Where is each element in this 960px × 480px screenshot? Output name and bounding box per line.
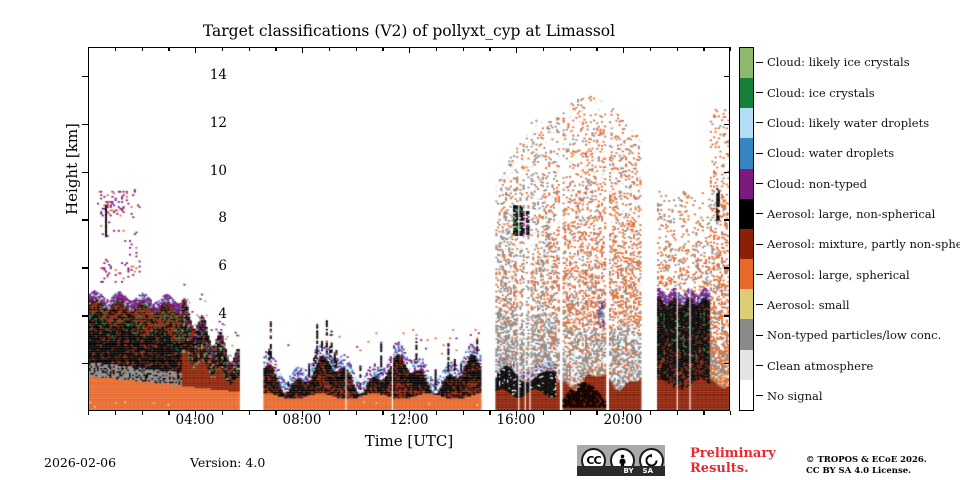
x-tick-mark bbox=[88, 47, 89, 51]
x-tick-mark bbox=[409, 47, 410, 53]
x-tick-mark bbox=[168, 47, 169, 51]
legend-label: Cloud: water droplets bbox=[767, 146, 894, 160]
colorbar-segment bbox=[740, 350, 753, 380]
x-tick-mark bbox=[623, 47, 624, 53]
x-tick-mark bbox=[249, 47, 250, 51]
y-tick-label: 8 bbox=[187, 212, 227, 226]
y-tick-mark bbox=[724, 219, 730, 220]
y-tick-label: 14 bbox=[187, 69, 227, 83]
y-tick-mark bbox=[82, 76, 88, 77]
y-tick-mark bbox=[82, 267, 88, 268]
legend-tick bbox=[756, 183, 763, 184]
x-tick-mark bbox=[115, 47, 116, 51]
x-tick-label: 20:00 bbox=[593, 414, 653, 428]
y-tick-mark bbox=[724, 172, 730, 173]
x-tick-mark bbox=[222, 47, 223, 51]
colorbar-segment bbox=[740, 108, 753, 138]
legend-label: Aerosol: large, non-spherical bbox=[767, 207, 935, 221]
cc-sa-label: SA bbox=[643, 467, 653, 475]
legend-label: No signal bbox=[767, 389, 823, 403]
y-tick-mark bbox=[82, 124, 88, 125]
preliminary-results-note: Preliminary Results. bbox=[690, 447, 790, 477]
x-tick-mark bbox=[302, 47, 303, 53]
y-tick-mark bbox=[724, 124, 730, 125]
footer-version: Version: 4.0 bbox=[190, 455, 265, 470]
legend-tick bbox=[756, 213, 763, 214]
x-tick-mark bbox=[88, 411, 89, 415]
x-tick-label: 04:00 bbox=[165, 414, 225, 428]
x-tick-mark bbox=[463, 411, 464, 415]
page-title: Target classifications (V2) of pollyxt_c… bbox=[88, 22, 730, 40]
x-tick-mark bbox=[436, 411, 437, 415]
x-tick-mark bbox=[382, 47, 383, 51]
preliminary-line-1: Preliminary bbox=[690, 447, 790, 462]
y-tick-mark bbox=[724, 315, 730, 316]
colorbar-segment bbox=[740, 380, 753, 410]
cc-badge-subbar: BY SA bbox=[577, 466, 665, 476]
x-tick-mark bbox=[703, 411, 704, 415]
y-tick-mark bbox=[724, 76, 730, 77]
x-tick-label: 08:00 bbox=[272, 414, 332, 428]
colorbar-segment bbox=[740, 319, 753, 349]
x-tick-mark bbox=[329, 411, 330, 415]
legend-tick bbox=[756, 274, 763, 275]
figure-canvas: Target classifications (V2) of pollyxt_c… bbox=[0, 0, 960, 480]
x-tick-mark bbox=[222, 411, 223, 415]
cc-by-label: BY bbox=[624, 467, 634, 475]
x-tick-mark bbox=[650, 411, 651, 415]
x-tick-mark bbox=[329, 47, 330, 51]
colorbar-segment bbox=[740, 138, 753, 168]
plot-area bbox=[88, 47, 730, 411]
colorbar-segment bbox=[740, 229, 753, 259]
legend-tick bbox=[756, 244, 763, 245]
y-tick-mark bbox=[82, 315, 88, 316]
colorbar-segment bbox=[740, 289, 753, 319]
colorbar-legend: No signalClean atmosphereNon-typed parti… bbox=[756, 47, 960, 411]
x-tick-mark bbox=[703, 47, 704, 51]
x-tick-mark bbox=[650, 47, 651, 51]
x-tick-mark bbox=[730, 47, 731, 51]
colorbar-segment bbox=[740, 48, 753, 78]
credits-line-1: © TROPOS & ECoE 2026. bbox=[806, 455, 956, 466]
legend-label: Non-typed particles/low conc. bbox=[767, 328, 941, 342]
classification-heatmap bbox=[89, 48, 730, 411]
legend-label: Aerosol: large, spherical bbox=[767, 268, 910, 282]
preliminary-line-2: Results. bbox=[690, 462, 790, 477]
y-tick-label: 4 bbox=[187, 308, 227, 322]
legend-tick bbox=[756, 395, 763, 396]
x-tick-mark bbox=[570, 47, 571, 51]
legend-label: Aerosol: mixture, partly non-spherical bbox=[767, 237, 960, 251]
y-tick-mark bbox=[82, 172, 88, 173]
legend-label: Cloud: likely ice crystals bbox=[767, 55, 910, 69]
footer-date: 2026-02-06 bbox=[44, 455, 116, 470]
legend-label: Cloud: ice crystals bbox=[767, 86, 875, 100]
y-tick-mark bbox=[724, 267, 730, 268]
colorbar-segment bbox=[740, 78, 753, 108]
y-tick-label: 2 bbox=[187, 356, 227, 370]
x-tick-mark bbox=[596, 47, 597, 51]
x-tick-label: 12:00 bbox=[379, 414, 439, 428]
legend-label: Cloud: non-typed bbox=[767, 177, 867, 191]
x-tick-mark bbox=[543, 47, 544, 51]
x-tick-mark bbox=[142, 411, 143, 415]
y-tick-label: 12 bbox=[187, 117, 227, 131]
y-tick-label: 6 bbox=[187, 260, 227, 274]
legend-label: Aerosol: small bbox=[767, 298, 850, 312]
y-tick-label: 10 bbox=[187, 165, 227, 179]
colorbar bbox=[739, 47, 754, 411]
legend-tick bbox=[756, 304, 763, 305]
x-tick-mark bbox=[677, 411, 678, 415]
y-tick-mark bbox=[82, 219, 88, 220]
credits-line-2: CC BY SA 4.0 License. bbox=[806, 466, 956, 477]
legend-label: Cloud: likely water droplets bbox=[767, 116, 929, 130]
x-tick-mark bbox=[356, 47, 357, 51]
x-tick-label: 16:00 bbox=[486, 414, 546, 428]
x-tick-mark bbox=[516, 47, 517, 53]
y-axis-label: Height [km] bbox=[63, 89, 81, 249]
legend-tick bbox=[756, 122, 763, 123]
y-tick-mark bbox=[82, 363, 88, 364]
legend-tick bbox=[756, 153, 763, 154]
x-tick-mark bbox=[275, 47, 276, 51]
colorbar-segment bbox=[740, 169, 753, 199]
x-tick-mark bbox=[195, 47, 196, 53]
x-tick-mark bbox=[436, 47, 437, 51]
x-tick-mark bbox=[543, 411, 544, 415]
x-tick-mark bbox=[356, 411, 357, 415]
x-tick-mark bbox=[677, 47, 678, 51]
legend-tick bbox=[756, 62, 763, 63]
y-tick-mark bbox=[724, 363, 730, 364]
x-tick-mark bbox=[249, 411, 250, 415]
creative-commons-badge[interactable]: CC BY SA bbox=[577, 445, 665, 476]
legend-tick bbox=[756, 365, 763, 366]
copyright-credits: © TROPOS & ECoE 2026. CC BY SA 4.0 Licen… bbox=[806, 455, 956, 478]
x-tick-mark bbox=[115, 411, 116, 415]
legend-tick bbox=[756, 335, 763, 336]
x-tick-mark bbox=[489, 47, 490, 51]
x-tick-mark bbox=[142, 47, 143, 51]
x-tick-mark bbox=[463, 47, 464, 51]
x-tick-mark bbox=[570, 411, 571, 415]
colorbar-segment bbox=[740, 199, 753, 229]
colorbar-segment bbox=[740, 259, 753, 289]
legend-tick bbox=[756, 92, 763, 93]
x-tick-mark bbox=[730, 411, 731, 415]
legend-label: Clean atmosphere bbox=[767, 359, 873, 373]
